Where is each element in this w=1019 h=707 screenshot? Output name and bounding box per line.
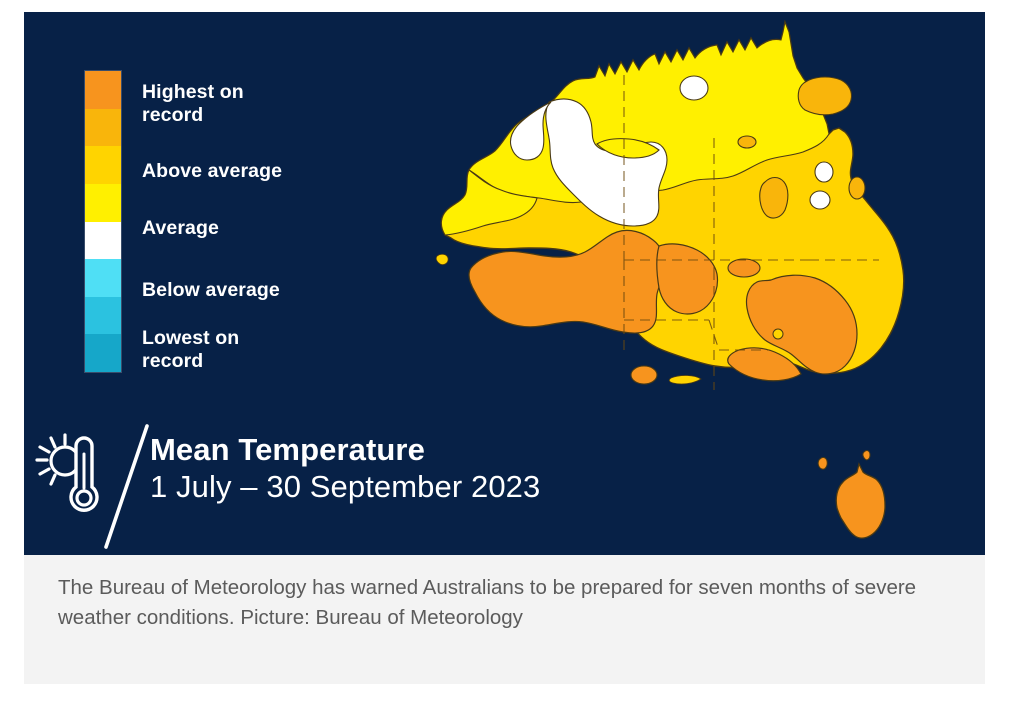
island-kangaroo [669, 375, 701, 384]
map-mainland [441, 22, 903, 390]
legend-band-average [85, 222, 121, 260]
sun-thermometer-icon [32, 430, 106, 518]
figure-caption: The Bureau of Meteorology has warned Aus… [24, 555, 985, 684]
legend-band-very-much-below-average [85, 297, 121, 335]
zone-qld-amber-pocket [760, 178, 788, 219]
tasmania-highest-orange [836, 464, 885, 538]
temperature-decile-legend: Highest on record Above average Average … [84, 70, 374, 392]
legend-band-very-much-above-average [85, 109, 121, 147]
map-panel: Highest on record Above average Average … [24, 12, 985, 555]
zone-highest-orange-dot-3 [773, 329, 783, 339]
map-tasmania [818, 451, 885, 539]
legend-band-below-average [85, 259, 121, 297]
tasmania-islet [818, 457, 827, 469]
page-title: Mean Temperature [150, 432, 540, 468]
legend-label-above-average: Above average [142, 160, 282, 183]
tasmania-islet-2 [863, 451, 870, 460]
page-subtitle: 1 July – 30 September 2023 [150, 468, 540, 506]
legend-label-lowest-on-record: Lowest on record [142, 327, 239, 373]
legend-band-lowest-on-record [85, 334, 121, 372]
legend-band-highest-on-record [85, 71, 121, 109]
zone-average-white-spot-topend [680, 76, 708, 100]
bom-temperature-figure: Highest on record Above average Average … [24, 12, 985, 684]
legend-band-above-average [85, 146, 121, 184]
legend-color-bar [84, 70, 122, 373]
zone-qld-amber-dot-2 [849, 177, 865, 199]
legend-label-average: Average [142, 217, 219, 240]
legend-label-below-average: Below average [142, 279, 280, 302]
zone-qld-amber-dot [738, 136, 756, 148]
zone-highest-orange-dot-1 [728, 259, 760, 277]
zone-qld-amber-cape [798, 77, 851, 115]
legend-band-above-average-upper [85, 184, 121, 222]
zone-average-white-spot-qld-2 [810, 191, 830, 209]
diagonal-slash-divider [100, 424, 156, 549]
title-block: Mean Temperature 1 July – 30 September 2… [32, 424, 540, 549]
zone-average-white-spot-qld-1 [815, 162, 833, 182]
legend-label-list: Highest on record Above average Average … [142, 70, 374, 373]
title-text-group: Mean Temperature 1 July – 30 September 2… [150, 432, 540, 506]
caption-text: The Bureau of Meteorology has warned Aus… [58, 573, 951, 633]
zone-highest-orange-dot-2 [631, 366, 657, 384]
legend-label-highest-on-record: Highest on record [142, 81, 244, 127]
island-west-1 [436, 254, 448, 264]
